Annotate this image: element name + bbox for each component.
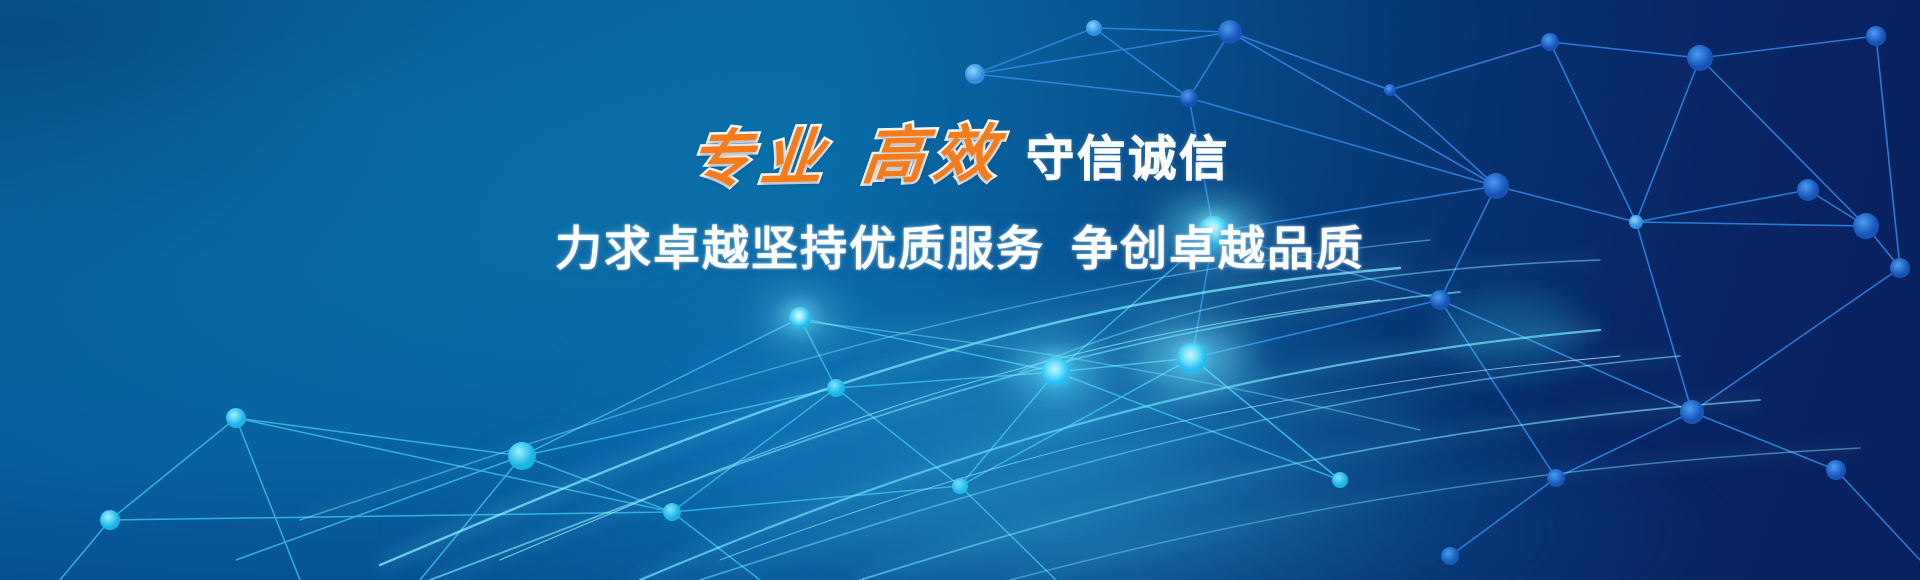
background-right-shade — [0, 0, 1920, 580]
promo-banner: 专业 高效 守信诚信 力求卓越坚持优质服务争创卓越品质 — [0, 0, 1920, 580]
